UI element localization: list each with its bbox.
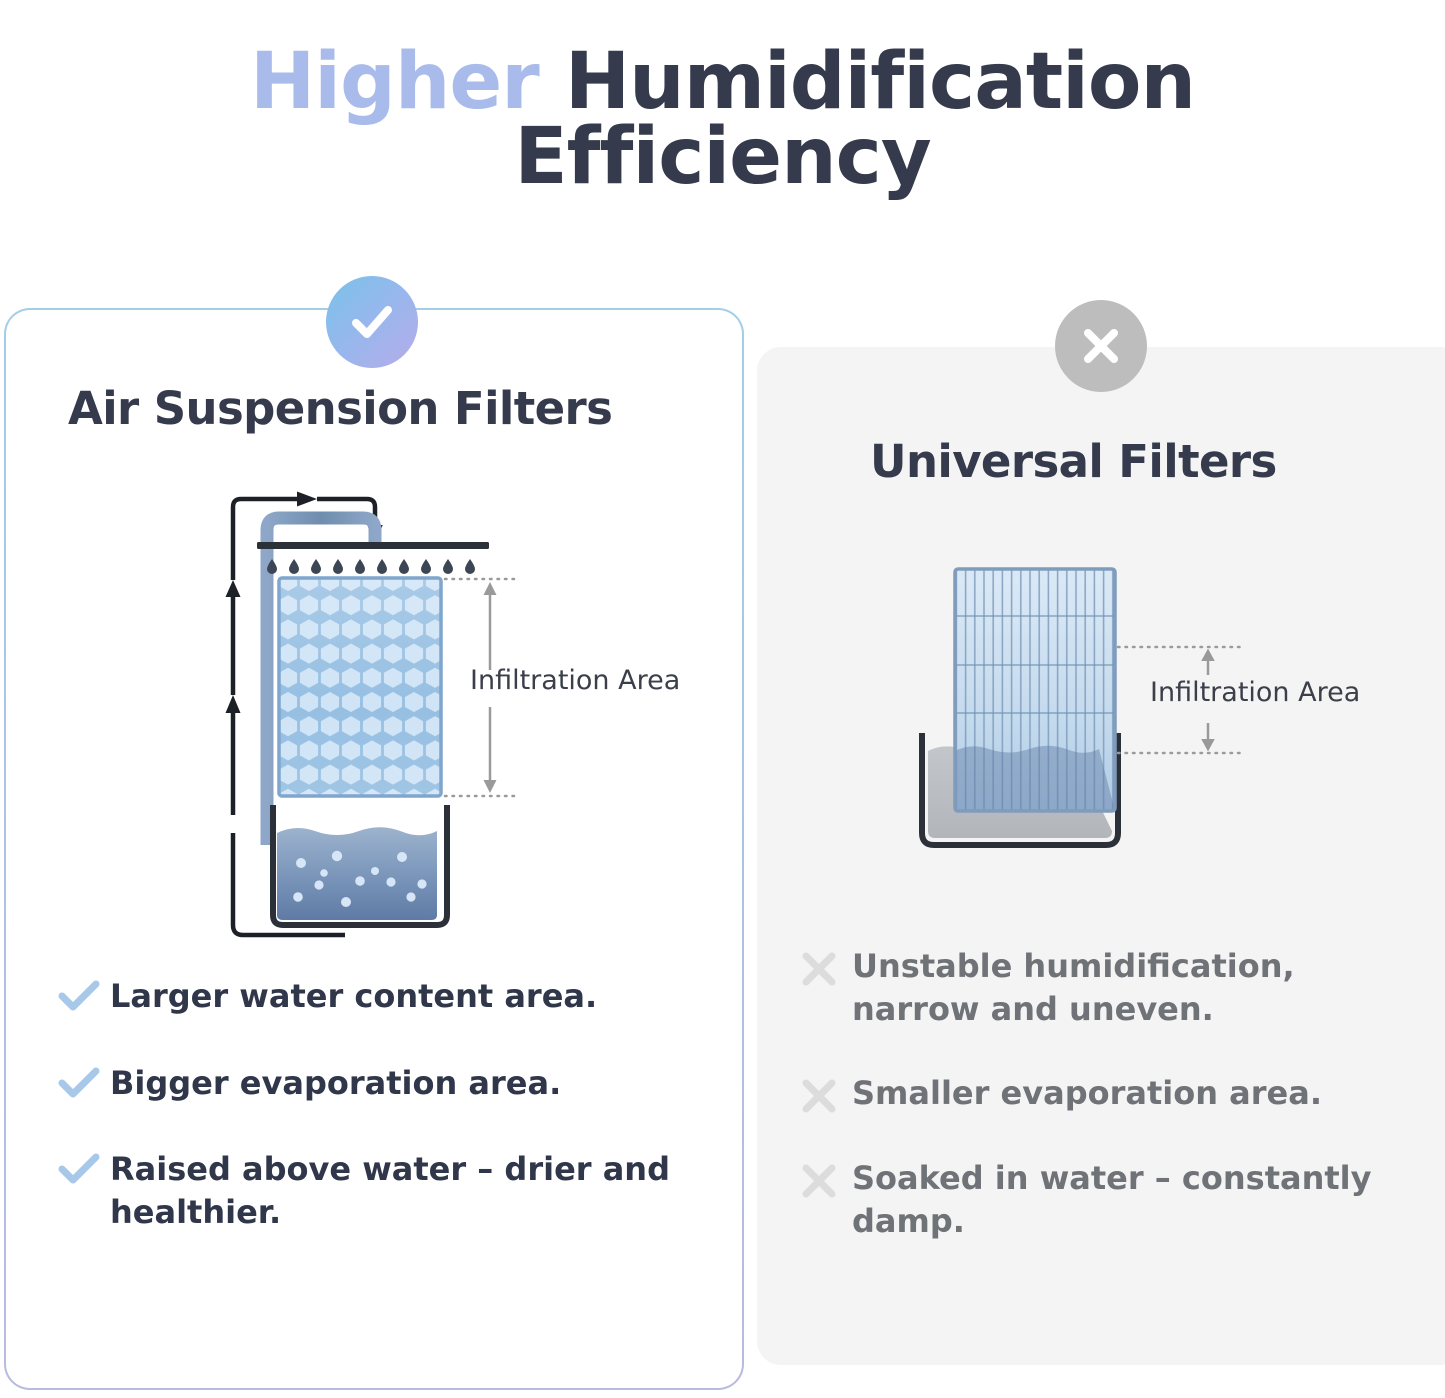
tank-water — [277, 827, 437, 920]
water-droplets — [267, 559, 475, 574]
flow-arrow-up-1 — [226, 580, 241, 597]
title-highlight: Higher — [250, 37, 539, 127]
right-card-heading: Universal Filters — [870, 435, 1430, 488]
list-item-text: Smaller evaporation area. — [852, 1072, 1322, 1115]
air-suspension-filter-diagram: Infiltration Area — [225, 485, 695, 940]
list-item: Soaked in water – constantly damp. — [800, 1157, 1380, 1242]
flow-arrow-right — [297, 492, 317, 507]
honeycomb-filter — [279, 578, 441, 796]
right-drawbacks-list: Unstable humidification, narrow and unev… — [800, 945, 1380, 1284]
list-item: Smaller evaporation area. — [800, 1072, 1380, 1115]
right-infiltration-area-label: Infiltration Area — [1150, 677, 1360, 708]
list-item: Raised above water – drier and healthier… — [58, 1148, 678, 1233]
check-icon — [345, 295, 399, 349]
list-item-text: Soaked in water – constantly damp. — [852, 1157, 1380, 1242]
list-item-text: Raised above water – drier and healthier… — [110, 1148, 678, 1233]
left-card-heading: Air Suspension Filters — [68, 382, 708, 435]
left-benefits-list: Larger water content area. Bigger evapor… — [58, 975, 678, 1277]
title-line2: Efficiency — [514, 112, 930, 202]
check-icon — [58, 975, 110, 1012]
sprinkler-bar — [257, 542, 489, 549]
check-icon — [58, 1148, 110, 1185]
close-icon — [1076, 321, 1126, 371]
list-item: Unstable humidification, narrow and unev… — [800, 945, 1380, 1030]
universal-filter-diagram: Infiltration Area — [900, 555, 1380, 865]
page-title: Higher Humidification Efficiency — [163, 45, 1283, 195]
x-icon — [800, 945, 852, 988]
x-icon — [800, 1157, 852, 1200]
flow-arrow-up-2 — [226, 695, 241, 713]
x-icon — [800, 1072, 852, 1115]
list-item: Bigger evaporation area. — [58, 1062, 678, 1105]
list-item-text: Larger water content area. — [110, 975, 597, 1018]
left-infiltration-area-label: Infiltration Area — [470, 665, 680, 696]
striped-filter — [955, 569, 1115, 811]
list-item-text: Unstable humidification, narrow and unev… — [852, 945, 1380, 1030]
x-circle-icon — [1055, 300, 1147, 392]
list-item-text: Bigger evaporation area. — [110, 1062, 561, 1105]
check-icon — [58, 1062, 110, 1099]
check-circle-icon — [326, 276, 418, 368]
list-item: Larger water content area. — [58, 975, 678, 1018]
page-header: Higher Humidification Efficiency — [0, 0, 1445, 240]
